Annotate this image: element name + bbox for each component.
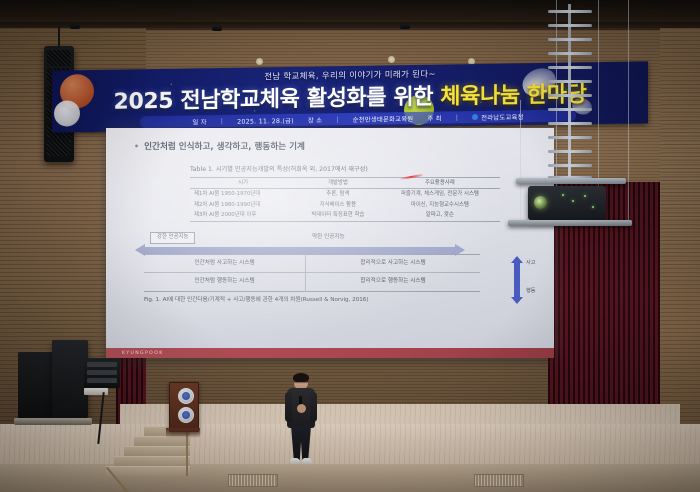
presenter-hands (297, 404, 306, 413)
projector-lens-icon (534, 196, 547, 209)
right-wall-panel (660, 28, 700, 458)
ceiling-light-fixture (70, 24, 80, 29)
equipment-rack (84, 358, 120, 388)
table-row: 인간처럼 행동하는 시스템 합리적으로 행동하는 시스템 (144, 273, 480, 292)
horizontal-double-arrow-icon (144, 247, 456, 254)
banner-host-value: 전라남도교육청 (481, 112, 524, 122)
table-cell: 지식베이스 활용 (296, 200, 380, 210)
banner-title-white: 2025 전남학교체육 활성화를 위한 (114, 85, 441, 115)
table-cell: 제2차 AI붐 1980-1990년대 (190, 200, 296, 210)
table-cell: 인간처럼 행동하는 시스템 (144, 273, 306, 292)
table-cell: 제3차 AI붐 2000년대 이후 (190, 210, 296, 221)
table-cell: 마이신, 지능형교수시스템 (380, 200, 500, 210)
projection-screen: • 인간처럼 인식하고, 생각하고, 행동하는 기계 Table 1. 시기별 … (106, 128, 554, 358)
slide-footer-bar: KYUNGPOOK (106, 348, 554, 358)
table-row: 제2차 AI붐 1980-1990년대 지식베이스 활용 마이신, 지능형교수시… (190, 200, 500, 210)
scissor-lift-mast (548, 4, 592, 180)
lectern (166, 382, 200, 438)
presenter (282, 374, 320, 468)
bullet-dot-icon: • (134, 143, 139, 151)
slide-footer-text: KYUNGPOOK (122, 351, 164, 356)
house-light (256, 58, 263, 65)
speaker-riser-base (14, 418, 92, 425)
separator: | (336, 115, 338, 123)
presenter-hair (293, 373, 309, 382)
table-cell: 빅데이터 특징표현 학습 (296, 210, 380, 221)
slide-bullet-text: 인간처럼 인식하고, 생각하고, 행동하는 기계 (144, 142, 305, 154)
presenter-legs (291, 426, 311, 460)
table-row: 제3차 AI붐 2000년대 이후 빅데이터 특징표현 학습 알파고, 왓슨 (190, 210, 500, 221)
ceiling-light-fixture (400, 24, 410, 29)
table-row: 제1차 AI붐 1950-1970년대 추론, 탐색 퍼즐기계, 체스게임, 전… (190, 189, 500, 200)
table-header-cell: 시기 (190, 177, 296, 188)
table-header-cell: 개발방법 (296, 177, 380, 188)
figure-caption: Fig. 1. AI에 대한 인간다움/기계적 + 사고/행동에 관한 4개의 … (144, 297, 542, 305)
table-cell: 인간처럼 사고하는 시스템 (144, 254, 306, 273)
lectern-base (166, 428, 200, 437)
table-cell: 합리적으로 행동하는 시스템 (306, 273, 480, 292)
banner-date-label: 일 자 (192, 117, 206, 126)
lectern-emblem-lower-icon (178, 407, 194, 423)
presenter-arm-left (285, 392, 292, 422)
banner-place-label: 장 소 (308, 115, 322, 124)
presenter-shoe-left (290, 458, 300, 464)
table-row: 인간처럼 사고하는 시스템 합리적으로 사고하는 시스템 (144, 254, 480, 273)
strong-ai-label: 강한 인공지능 (150, 232, 195, 244)
table-caption: Table 1. 시기별 인공지능개발의 특성(허희옥 외, 2017에서 재구… (190, 166, 542, 174)
lectern-emblem-upper-icon (178, 388, 194, 404)
banner-host-label: 주 최 (427, 113, 441, 122)
rig-cable (628, 0, 629, 224)
table-header-cell: 주요활용사례 (380, 177, 500, 188)
banner-host-org: 전라남도교육청 (472, 112, 524, 122)
ceiling-projector (528, 186, 606, 220)
banner-place-value: 순천만생태문화교육원 (353, 114, 414, 124)
table-cell: 추론, 탐색 (296, 189, 380, 200)
ai-era-table: 시기 개발방법 주요활용사례 제1차 AI붐 1950-1970년대 추론, 탐… (190, 177, 500, 222)
auditorium-scene: 전남 학교체육, 우리의 이야기가 미래가 된다~ 2025 전남학교체육 활성… (0, 0, 700, 492)
presentation-slide: • 인간처럼 인식하고, 생각하고, 행동하는 기계 Table 1. 시기별 … (106, 128, 554, 358)
house-light (388, 56, 395, 63)
weak-ai-label: 약한 인공지능 (312, 234, 345, 242)
stage-side-speaker-front (52, 340, 88, 418)
acting-label: 행동 (526, 288, 536, 295)
separator: | (456, 113, 458, 121)
separator: | (221, 117, 223, 125)
table-cell: 퍼즐기계, 체스게임, 전문가 시스템 (380, 189, 500, 200)
table-cell: 알파고, 왓슨 (380, 210, 500, 221)
thinking-label: 사고 (526, 260, 536, 267)
figure-axis-labels: 강한 인공지능 약한 인공지능 (144, 232, 504, 254)
slide-bullet-line: • 인간처럼 인식하고, 생각하고, 행동하는 기계 (134, 142, 542, 154)
rack-white-device (84, 388, 108, 395)
projector-mount-plate-lower (508, 220, 632, 226)
ai-dimensions-figure: 강한 인공지능 약한 인공지능 인간처럼 사고하는 시스템 합리적으로 사고하는… (144, 232, 504, 292)
presenter-arm-right (310, 392, 317, 422)
projector-mount-plate-upper (516, 178, 626, 184)
quadrant-table: 인간처럼 사고하는 시스템 합리적으로 사고하는 시스템 인간처럼 행동하는 시… (144, 254, 480, 292)
rig-cable (598, 0, 599, 188)
banner-date-value: 2025. 11. 28.(금) (237, 115, 294, 125)
vertical-double-arrow-icon (514, 262, 520, 298)
speaker-suspension-rod (58, 24, 60, 48)
lectern-body (169, 382, 199, 432)
table-cell: 제1차 AI붐 1950-1970년대 (190, 189, 296, 200)
presenter-shoe-right (302, 458, 312, 464)
rig-cable (520, 100, 521, 226)
table-header-row: 시기 개발방법 주요활용사례 (190, 177, 500, 188)
table-cell: 합리적으로 사고하는 시스템 (306, 254, 480, 273)
stage-side-speaker-rear (18, 352, 54, 420)
vertical-axis-group: 사고 행동 (508, 256, 538, 304)
stage-vent-grille (474, 474, 524, 487)
education-office-logo-icon (472, 114, 478, 120)
ceiling-light-fixture (212, 26, 222, 31)
stage-vent-grille (228, 474, 278, 487)
